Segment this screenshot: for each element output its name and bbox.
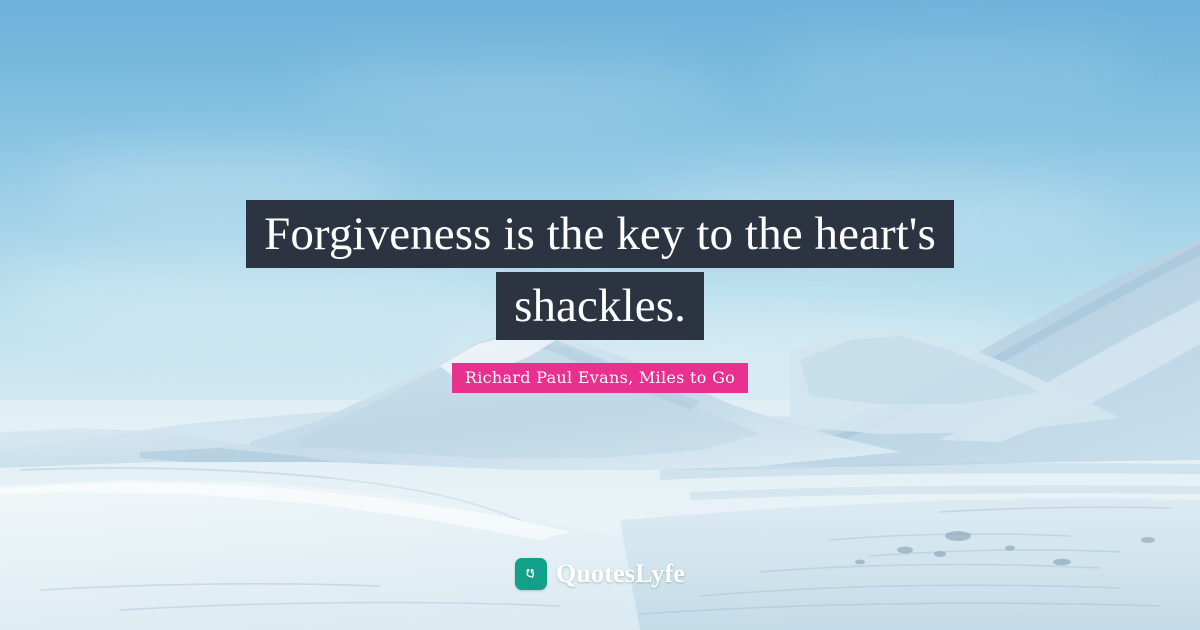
- quote-line-row: shackles.: [0, 272, 1200, 340]
- quote-bubble-icon: [515, 558, 547, 590]
- quote-line-row: Forgiveness is the key to the heart's: [0, 200, 1200, 268]
- attribution-block: Richard Paul Evans, Miles to Go: [0, 363, 1200, 393]
- quote-line-2: shackles.: [496, 272, 704, 340]
- quote-card: Forgiveness is the key to the heart's sh…: [0, 0, 1200, 630]
- brand-name: QuotesLyfe: [556, 558, 685, 590]
- quote-text-block: Forgiveness is the key to the heart's sh…: [0, 200, 1200, 340]
- brand-watermark: QuotesLyfe: [0, 558, 1200, 590]
- quote-line-1: Forgiveness is the key to the heart's: [246, 200, 954, 268]
- attribution-text: Richard Paul Evans, Miles to Go: [452, 363, 748, 393]
